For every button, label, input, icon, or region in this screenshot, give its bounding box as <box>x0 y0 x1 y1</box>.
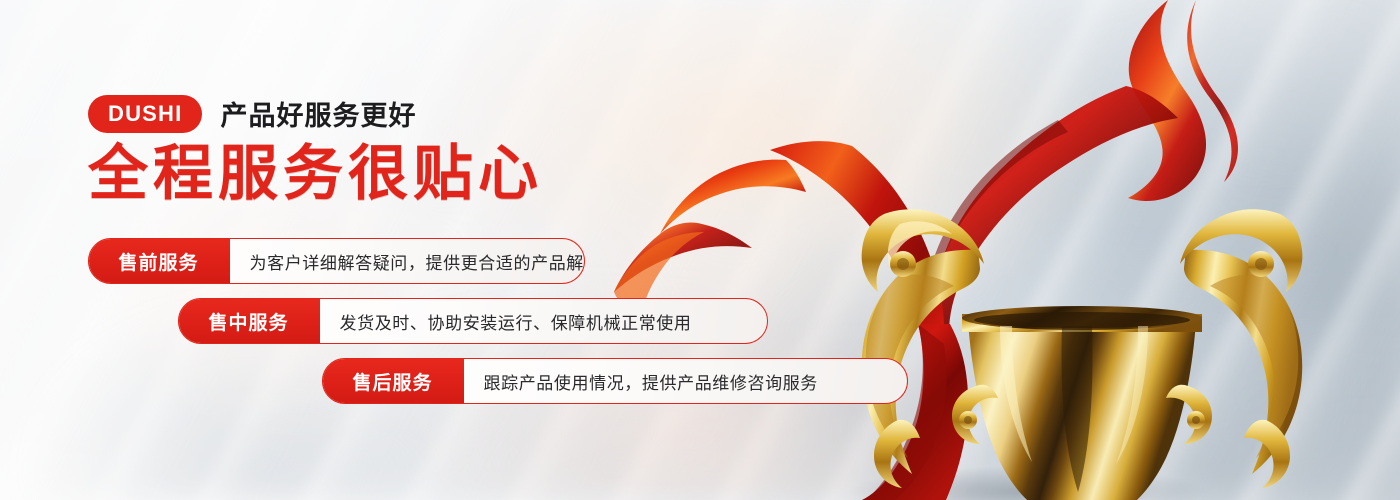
service-banner: DUSHI 产品好服务更好 全程服务很贴心 售前服务 为客户详细解答疑问，提供更… <box>0 0 1400 500</box>
brand-badge: DUSHI <box>88 95 202 133</box>
service-pill-aftersale: 售后服务 跟踪产品使用情况，提供产品维修咨询服务 <box>322 358 908 404</box>
service-tag-insale: 售中服务 <box>178 298 320 344</box>
service-tag-presale: 售前服务 <box>88 238 230 284</box>
service-desc-insale: 发货及时、协助安装运行、保障机械正常使用 <box>320 299 714 343</box>
kicker-row: DUSHI 产品好服务更好 <box>88 94 416 133</box>
kicker-text: 产品好服务更好 <box>220 94 416 133</box>
service-desc-presale: 为客户详细解答疑问，提供更合适的产品解决方案 <box>230 239 586 283</box>
service-pill-presale: 售前服务 为客户详细解答疑问，提供更合适的产品解决方案 <box>88 238 585 284</box>
service-tag-aftersale: 售后服务 <box>322 358 464 404</box>
page-title: 全程服务很贴心 <box>88 142 543 207</box>
service-pill-insale: 售中服务 发货及时、协助安装运行、保障机械正常使用 <box>178 298 768 344</box>
service-desc-aftersale: 跟踪产品使用情况，提供产品维修咨询服务 <box>464 359 840 403</box>
banner-content: DUSHI 产品好服务更好 全程服务很贴心 售前服务 为客户详细解答疑问，提供更… <box>88 0 868 500</box>
